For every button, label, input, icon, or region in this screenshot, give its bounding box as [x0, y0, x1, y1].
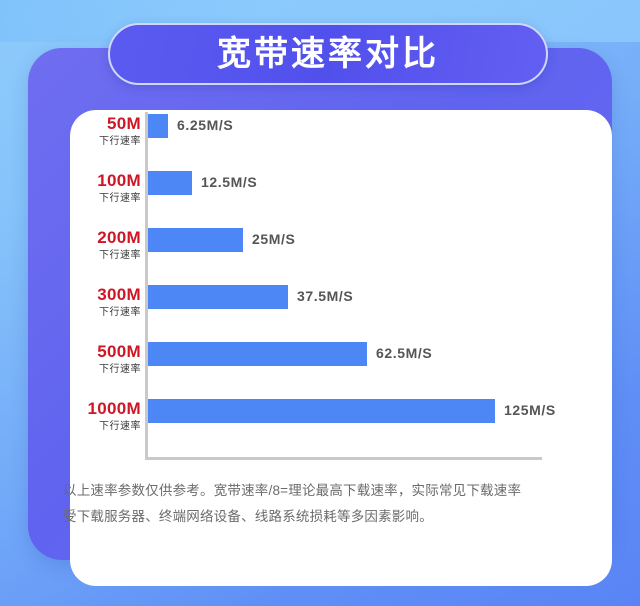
bar-sublabel: 下行速率 — [55, 306, 141, 320]
bar-tier-label: 500M — [55, 342, 141, 362]
bar — [148, 228, 243, 252]
bar — [148, 342, 367, 366]
chart-row: 200M下行速率25M/S — [55, 226, 555, 282]
bar — [148, 285, 288, 309]
chart-row: 500M下行速率62.5M/S — [55, 340, 555, 396]
bar-chart: 50M下行速率6.25M/S100M下行速率12.5M/S200M下行速率25M… — [55, 112, 555, 460]
title-pill: 宽带速率对比 — [108, 23, 548, 85]
bar-sublabel: 下行速率 — [55, 249, 141, 263]
chart-row: 100M下行速率12.5M/S — [55, 169, 555, 225]
bar-tier-label: 50M — [55, 114, 141, 134]
bar-tier-label: 1000M — [55, 399, 141, 419]
bar-category-label: 300M下行速率 — [55, 285, 141, 320]
bar-category-label: 100M下行速率 — [55, 171, 141, 206]
chart-row: 1000M下行速率125M/S — [55, 397, 555, 453]
footnote: 以上速率参数仅供参考。宽带速率/8=理论最高下载速率，实际常见下载速率 受下载服… — [63, 478, 583, 530]
bar-value-label: 62.5M/S — [376, 345, 432, 361]
bar-sublabel: 下行速率 — [55, 420, 141, 434]
chart-row: 300M下行速率37.5M/S — [55, 283, 555, 339]
bar-tier-label: 100M — [55, 171, 141, 191]
bar-category-label: 500M下行速率 — [55, 342, 141, 377]
bar — [148, 399, 495, 423]
bar-sublabel: 下行速率 — [55, 363, 141, 377]
bar — [148, 171, 192, 195]
bar — [148, 114, 168, 138]
chart-row: 50M下行速率6.25M/S — [55, 112, 555, 168]
bar-tier-label: 300M — [55, 285, 141, 305]
infographic-canvas: 宽带速率对比 50M下行速率6.25M/S100M下行速率12.5M/S200M… — [0, 0, 640, 606]
bar-category-label: 1000M下行速率 — [55, 399, 141, 434]
chart-x-axis-line — [145, 457, 542, 460]
footnote-line-1: 以上速率参数仅供参考。宽带速率/8=理论最高下载速率，实际常见下载速率 — [63, 478, 583, 504]
bar-value-label: 12.5M/S — [201, 174, 257, 190]
footnote-line-2: 受下载服务器、终端网络设备、线路系统损耗等多因素影响。 — [63, 504, 583, 530]
bar-sublabel: 下行速率 — [55, 135, 141, 149]
bar-value-label: 25M/S — [252, 231, 295, 247]
bar-value-label: 125M/S — [504, 402, 556, 418]
bar-category-label: 200M下行速率 — [55, 228, 141, 263]
bar-sublabel: 下行速率 — [55, 192, 141, 206]
bar-value-label: 37.5M/S — [297, 288, 353, 304]
page-title: 宽带速率对比 — [217, 37, 439, 71]
bar-value-label: 6.25M/S — [177, 117, 233, 133]
bar-category-label: 50M下行速率 — [55, 114, 141, 149]
bar-tier-label: 200M — [55, 228, 141, 248]
